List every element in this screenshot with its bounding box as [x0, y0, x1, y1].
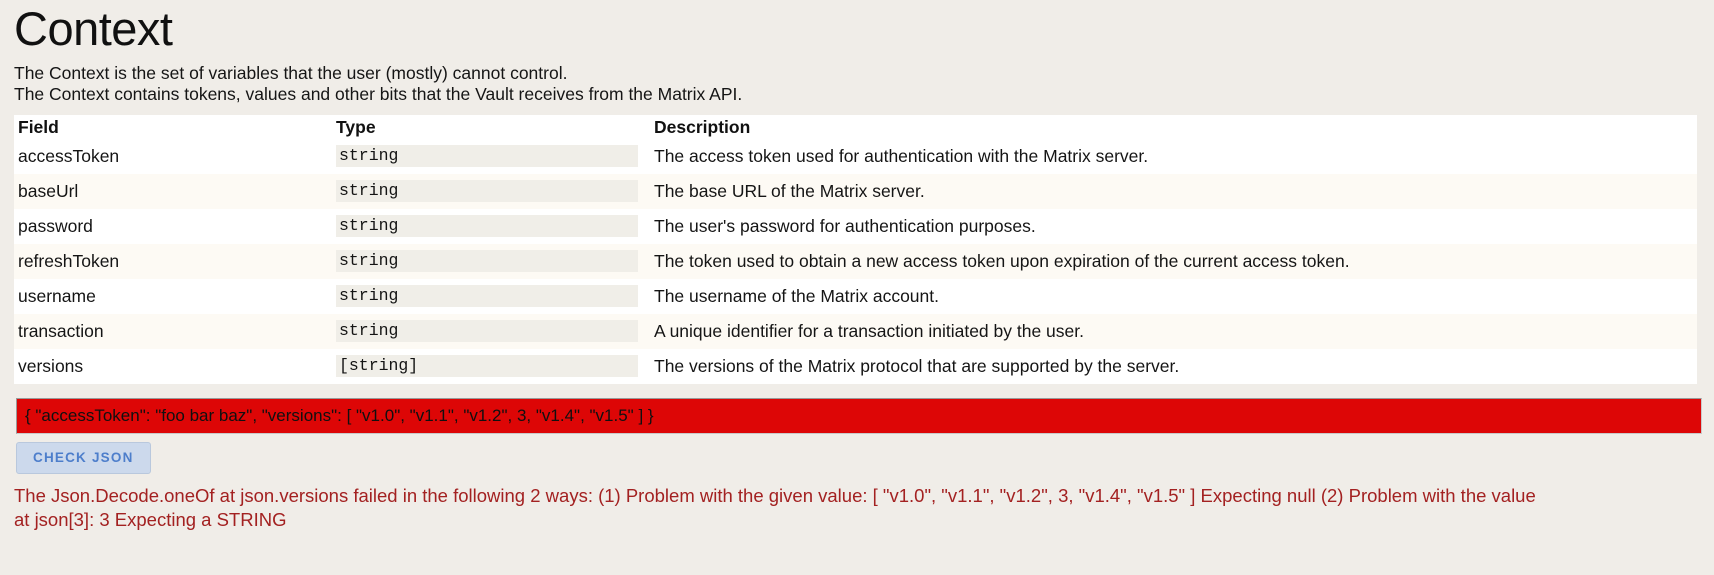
type-code: string: [336, 180, 638, 202]
cell-type: string: [332, 314, 650, 349]
table-row: versions [string] The versions of the Ma…: [14, 349, 1697, 384]
table-row: transaction string A unique identifier f…: [14, 314, 1697, 349]
table-body: accessToken string The access token used…: [14, 139, 1697, 384]
cell-field: baseUrl: [14, 174, 332, 209]
cell-field: username: [14, 279, 332, 314]
table-row: password string The user's password for …: [14, 209, 1697, 244]
cell-description: The user's password for authentication p…: [650, 209, 1697, 244]
type-code: string: [336, 320, 638, 342]
cell-description: A unique identifier for a transaction in…: [650, 314, 1697, 349]
table-header: Field Type Description: [14, 115, 1697, 139]
cell-field: transaction: [14, 314, 332, 349]
cell-description: The access token used for authentication…: [650, 139, 1697, 174]
column-header-type: Type: [332, 115, 650, 139]
cell-type: string: [332, 244, 650, 279]
cell-field: accessToken: [14, 139, 332, 174]
cell-type: string: [332, 279, 650, 314]
json-input[interactable]: [16, 398, 1702, 434]
type-code: string: [336, 145, 638, 167]
type-code: string: [336, 285, 638, 307]
cell-description: The token used to obtain a new access to…: [650, 244, 1697, 279]
table-header-row: Field Type Description: [14, 115, 1697, 139]
context-table-wrapper: Field Type Description accessToken strin…: [14, 115, 1700, 384]
table-row: baseUrl string The base URL of the Matri…: [14, 174, 1697, 209]
cell-description: The username of the Matrix account.: [650, 279, 1697, 314]
cell-description: The base URL of the Matrix server.: [650, 174, 1697, 209]
table-row: refreshToken string The token used to ob…: [14, 244, 1697, 279]
page-title: Context: [14, 4, 1700, 53]
type-code: string: [336, 215, 638, 237]
cell-type: string: [332, 174, 650, 209]
cell-description: The versions of the Matrix protocol that…: [650, 349, 1697, 384]
intro-line-1: The Context is the set of variables that…: [14, 63, 1700, 84]
cell-field: refreshToken: [14, 244, 332, 279]
intro-line-2: The Context contains tokens, values and …: [14, 84, 1700, 105]
cell-field: password: [14, 209, 332, 244]
cell-type: string: [332, 139, 650, 174]
type-code: [string]: [336, 355, 638, 377]
type-code: string: [336, 250, 638, 272]
intro-paragraph: The Context is the set of variables that…: [14, 63, 1700, 105]
cell-type: [string]: [332, 349, 650, 384]
cell-field: versions: [14, 349, 332, 384]
context-table: Field Type Description accessToken strin…: [14, 115, 1697, 384]
context-page: Context The Context is the set of variab…: [0, 4, 1714, 575]
error-message: The Json.Decode.oneOf at json.versions f…: [14, 484, 1544, 532]
cell-type: string: [332, 209, 650, 244]
column-header-description: Description: [650, 115, 1697, 139]
column-header-field: Field: [14, 115, 332, 139]
table-row: username string The username of the Matr…: [14, 279, 1697, 314]
check-json-button[interactable]: CHECK JSON: [16, 442, 151, 474]
table-row: accessToken string The access token used…: [14, 139, 1697, 174]
